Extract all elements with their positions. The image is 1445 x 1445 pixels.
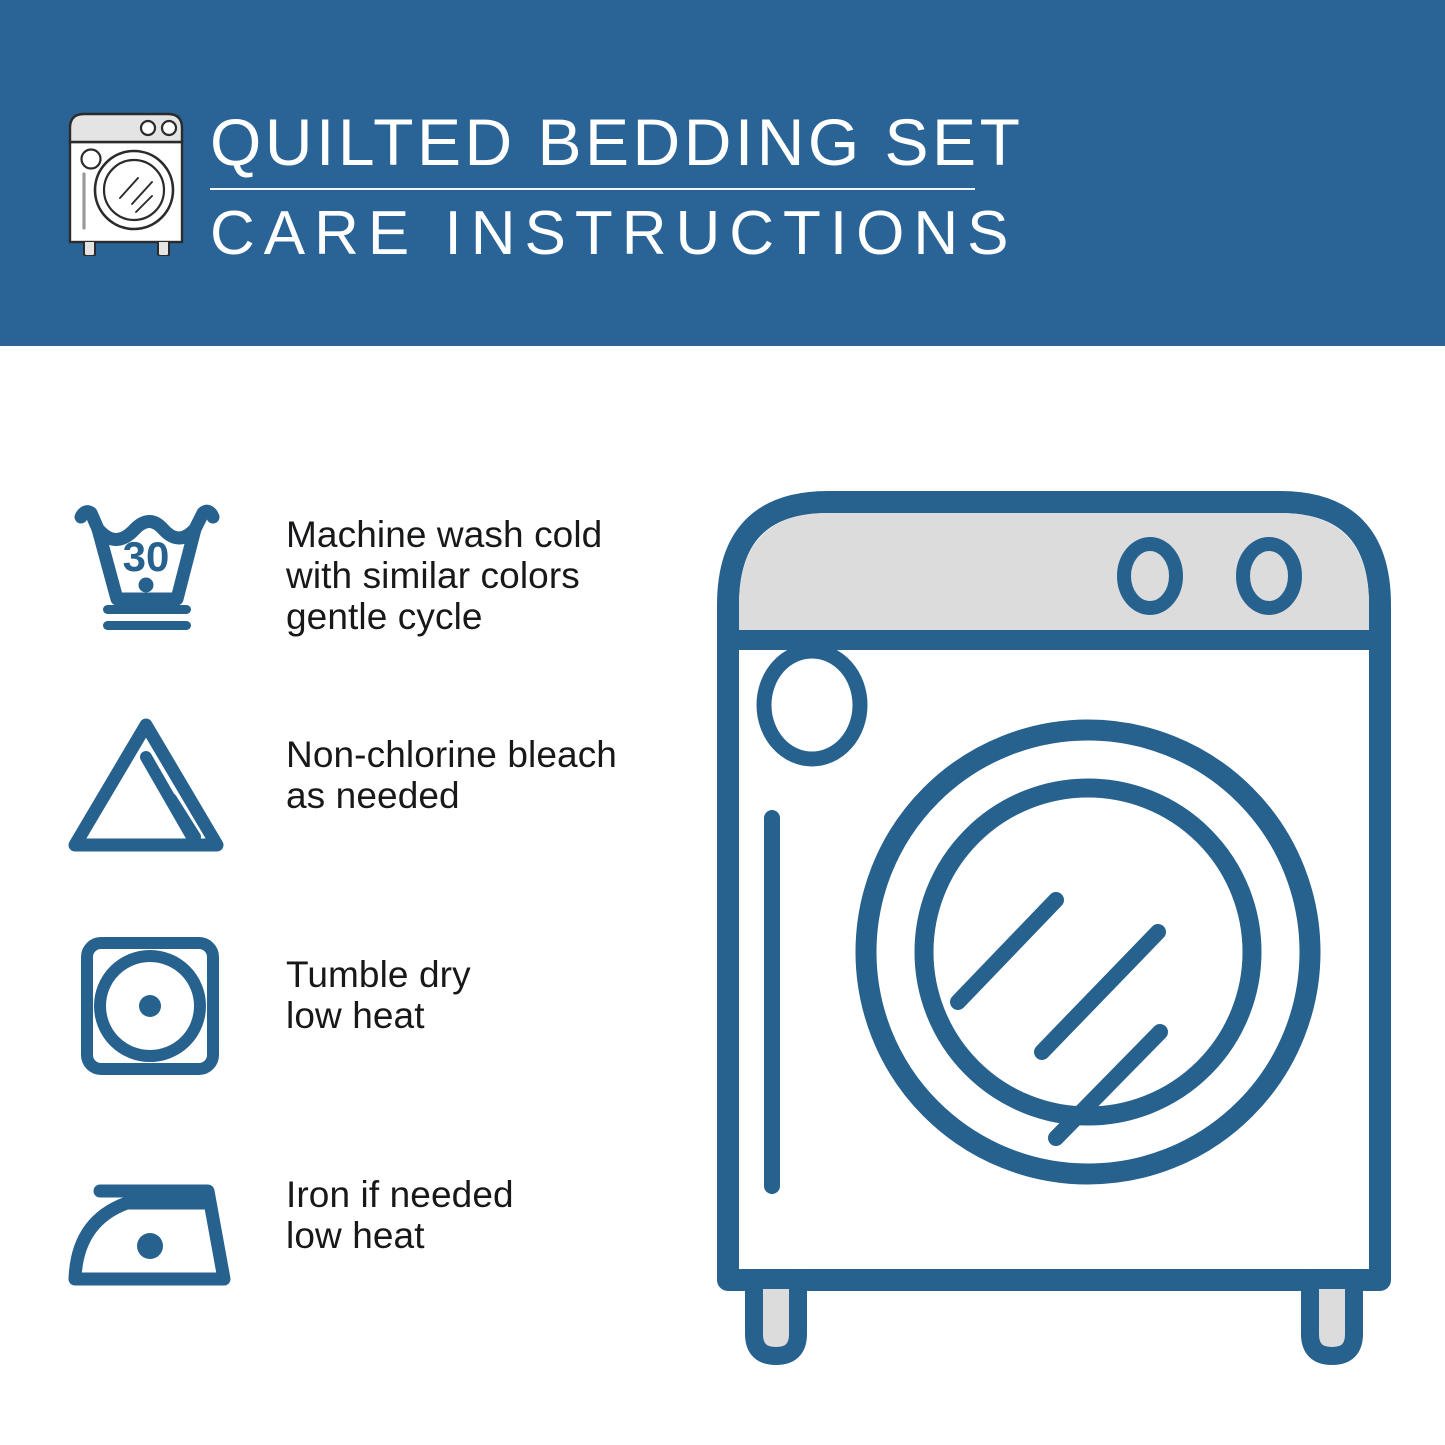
page-subtitle: CARE INSTRUCTIONS: [210, 198, 1000, 270]
leg-right: [1310, 1280, 1354, 1356]
care-item-bleach: Non-chlorine bleach as needed: [62, 706, 702, 866]
knob-left: [1124, 544, 1176, 608]
care-item-machine-wash: 30 Machine wash cold with similar colors…: [62, 486, 702, 646]
care-item-label: Iron if needed low heat: [262, 1146, 702, 1256]
care-line: Tumble dry: [286, 954, 702, 995]
care-line: Non-chlorine bleach: [286, 734, 702, 775]
care-line: as needed: [286, 775, 702, 816]
page-title: QUILTED BEDDING SET: [210, 104, 1000, 180]
care-instructions-infographic: QUILTED BEDDING SET CARE INSTRUCTIONS 30: [0, 0, 1445, 1445]
care-line: with similar colors: [286, 555, 702, 596]
title-divider: [210, 188, 975, 190]
wash-temperature-value: 30: [123, 533, 170, 580]
care-line: gentle cycle: [286, 596, 702, 637]
knob-right: [1243, 544, 1295, 608]
drum-inner-ring: [924, 788, 1252, 1116]
care-item-tumble-dry: Tumble dry low heat: [62, 926, 702, 1086]
care-item-label: Tumble dry low heat: [262, 926, 702, 1036]
leg-left: [754, 1280, 798, 1356]
tumble-dry-low-heat-icon: [62, 926, 262, 1086]
non-chlorine-bleach-triangle-icon: [62, 706, 262, 866]
header-text-block: QUILTED BEDDING SET CARE INSTRUCTIONS: [210, 104, 1000, 270]
detergent-port: [764, 651, 860, 759]
care-line: Machine wash cold: [286, 514, 702, 555]
care-item-label: Machine wash cold with similar colors ge…: [262, 486, 702, 637]
care-line: Iron if needed: [286, 1174, 702, 1215]
iron-low-heat-icon: [62, 1146, 262, 1306]
washing-machine-icon: [64, 104, 188, 256]
wash-tub-30-gentle-icon: 30: [62, 486, 262, 646]
care-line: low heat: [286, 1215, 702, 1256]
care-item-iron: Iron if needed low heat: [62, 1146, 702, 1306]
care-instructions-list: 30 Machine wash cold with similar colors…: [62, 486, 702, 1366]
header-banner: QUILTED BEDDING SET CARE INSTRUCTIONS: [0, 0, 1445, 346]
care-item-label: Non-chlorine bleach as needed: [262, 706, 702, 816]
care-line: low heat: [286, 995, 702, 1036]
front-load-washing-machine-illustration: [714, 480, 1394, 1370]
